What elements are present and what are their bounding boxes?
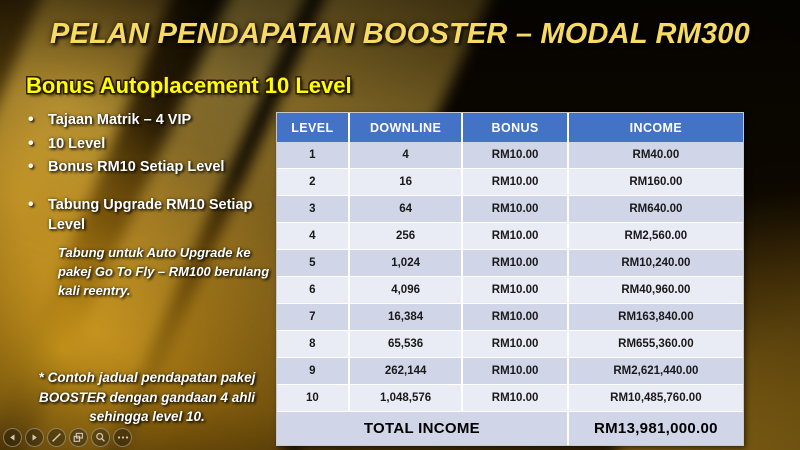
bullet-list: Tajaan Matrik – 4 VIP 10 Level Bonus RM1… [22, 110, 274, 236]
cell-downline: 1,024 [349, 250, 463, 277]
previous-slide-button[interactable] [3, 428, 22, 447]
cell-level: 3 [277, 196, 349, 223]
upgrade-note: Tabung untuk Auto Upgrade ke pakej Go To… [58, 244, 274, 301]
table-total-row: TOTAL INCOME RM13,981,000.00 [277, 412, 743, 446]
cell-level: 8 [277, 331, 349, 358]
cell-downline: 65,536 [349, 331, 463, 358]
income-table: LEVEL DOWNLINE BONUS INCOME 1 4 RM10.00 … [277, 113, 743, 445]
cell-downline: 4 [349, 142, 463, 169]
cell-bonus: RM10.00 [462, 142, 567, 169]
cell-downline: 16,384 [349, 304, 463, 331]
cell-income: RM163,840.00 [568, 304, 743, 331]
pen-icon [51, 432, 62, 443]
cell-level: 10 [277, 385, 349, 412]
table-row: 9 262,144 RM10.00 RM2,621,440.00 [277, 358, 743, 385]
cell-income: RM40.00 [568, 142, 743, 169]
total-income-value: RM13,981,000.00 [568, 412, 743, 446]
table-row: 3 64 RM10.00 RM640.00 [277, 196, 743, 223]
table-row: 2 16 RM10.00 RM160.00 [277, 169, 743, 196]
cell-downline: 64 [349, 196, 463, 223]
cell-level: 2 [277, 169, 349, 196]
cell-downline: 256 [349, 223, 463, 250]
cell-bonus: RM10.00 [462, 196, 567, 223]
list-item: Tajaan Matrik – 4 VIP [22, 110, 274, 131]
table-body: 1 4 RM10.00 RM40.00 2 16 RM10.00 RM160.0… [277, 142, 743, 445]
cell-income: RM655,360.00 [568, 331, 743, 358]
cell-downline: 1,048,576 [349, 385, 463, 412]
total-income-label: TOTAL INCOME [277, 412, 568, 446]
column-header-downline: DOWNLINE [349, 113, 463, 142]
cell-bonus: RM10.00 [462, 358, 567, 385]
all-slides-button[interactable] [69, 428, 88, 447]
more-options-button[interactable] [113, 428, 132, 447]
cell-downline: 262,144 [349, 358, 463, 385]
cell-bonus: RM10.00 [462, 250, 567, 277]
cell-income: RM2,560.00 [568, 223, 743, 250]
column-header-level: LEVEL [277, 113, 349, 142]
cell-income: RM40,960.00 [568, 277, 743, 304]
list-item: 10 Level [22, 134, 274, 155]
table-row: 7 16,384 RM10.00 RM163,840.00 [277, 304, 743, 331]
cell-bonus: RM10.00 [462, 304, 567, 331]
table-row: 8 65,536 RM10.00 RM655,360.00 [277, 331, 743, 358]
table-row: 5 1,024 RM10.00 RM10,240.00 [277, 250, 743, 277]
cell-downline: 16 [349, 169, 463, 196]
triangle-left-icon [8, 433, 17, 442]
table-header-row: LEVEL DOWNLINE BONUS INCOME [277, 113, 743, 142]
ellipsis-icon [117, 435, 129, 440]
cell-income: RM10,240.00 [568, 250, 743, 277]
slide-subtitle: Bonus Autoplacement 10 Level [26, 73, 352, 99]
magnifier-icon [95, 432, 106, 443]
cell-bonus: RM10.00 [462, 277, 567, 304]
cell-bonus: RM10.00 [462, 169, 567, 196]
cell-level: 9 [277, 358, 349, 385]
bullet-section: Tajaan Matrik – 4 VIP 10 Level Bonus RM1… [22, 110, 274, 300]
cell-level: 4 [277, 223, 349, 250]
table-row: 4 256 RM10.00 RM2,560.00 [277, 223, 743, 250]
list-item: Bonus RM10 Setiap Level [22, 157, 274, 178]
cell-bonus: RM10.00 [462, 385, 567, 412]
presentation-slide: PELAN PENDAPATAN BOOSTER – MODAL RM300 B… [0, 0, 800, 450]
cell-income: RM2,621,440.00 [568, 358, 743, 385]
slide-title: PELAN PENDAPATAN BOOSTER – MODAL RM300 [0, 18, 800, 51]
column-header-income: INCOME [568, 113, 743, 142]
pen-button[interactable] [47, 428, 66, 447]
cell-level: 5 [277, 250, 349, 277]
cell-level: 1 [277, 142, 349, 169]
cell-income: RM640.00 [568, 196, 743, 223]
list-item: Tabung Upgrade RM10 Setiap Level [22, 195, 274, 236]
triangle-right-icon [30, 433, 39, 442]
slideshow-toolbar[interactable] [3, 428, 132, 447]
cell-level: 7 [277, 304, 349, 331]
cell-bonus: RM10.00 [462, 223, 567, 250]
table-row: 10 1,048,576 RM10.00 RM10,485,760.00 [277, 385, 743, 412]
zoom-button[interactable] [91, 428, 110, 447]
next-slide-button[interactable] [25, 428, 44, 447]
cell-level: 6 [277, 277, 349, 304]
table-row: 1 4 RM10.00 RM40.00 [277, 142, 743, 169]
cell-income: RM160.00 [568, 169, 743, 196]
slides-grid-icon [73, 432, 84, 443]
footnote-text: * Contoh jadual pendapatan pakej BOOSTER… [22, 368, 272, 427]
column-header-bonus: BONUS [462, 113, 567, 142]
cell-bonus: RM10.00 [462, 331, 567, 358]
cell-downline: 4,096 [349, 277, 463, 304]
cell-income: RM10,485,760.00 [568, 385, 743, 412]
income-table-container: LEVEL DOWNLINE BONUS INCOME 1 4 RM10.00 … [276, 112, 744, 446]
table-row: 6 4,096 RM10.00 RM40,960.00 [277, 277, 743, 304]
